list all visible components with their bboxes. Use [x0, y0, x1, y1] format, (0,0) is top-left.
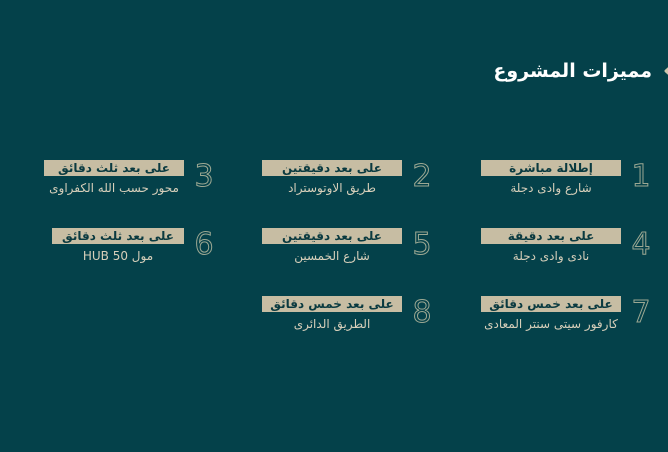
feature-number: 3 [193, 160, 215, 194]
feature-subtitle: طريق الاوتوستراد [262, 181, 402, 196]
feature-body: على بعد ثلث دقائق محور حسب الله الكفراوى [44, 160, 184, 196]
feature-number: 7 [630, 296, 652, 330]
feature-subtitle: نادى وادى دجلة [481, 249, 621, 264]
feature-number: 2 [411, 160, 433, 194]
feature-body: على بعد خمس دقائق الطريق الدائرى [262, 296, 402, 332]
feature-badge: على بعد خمس دقائق [481, 296, 621, 312]
feature-badge: إطلالة مباشرة [481, 160, 621, 176]
feature-number: 1 [630, 160, 652, 194]
feature-body: على بعد دقيقتين شارع الخمسين [262, 228, 402, 264]
feature-body: إطلالة مباشرة شارع وادى دجلة [481, 160, 621, 196]
slide-canvas: مميزات المشروع 1 إطلالة مباشرة شارع وادى… [0, 0, 668, 452]
feature-item[interactable]: 7 على بعد خمس دقائق كارفور سيتى سنتر الم… [481, 296, 652, 332]
feature-badge: على بعد خمس دقائق [262, 296, 402, 312]
feature-item[interactable]: 1 إطلالة مباشرة شارع وادى دجلة [481, 160, 652, 196]
feature-badge: على بعد ثلث دقائق [44, 160, 184, 176]
feature-subtitle: الطريق الدائرى [262, 317, 402, 332]
feature-badge: على بعد دقيقة [481, 228, 621, 244]
feature-subtitle: شارع وادى دجلة [481, 181, 621, 196]
chevron-left-icon [660, 58, 668, 84]
feature-item[interactable]: 3 على بعد ثلث دقائق محور حسب الله الكفرا… [44, 160, 215, 196]
feature-badge: على بعد دقيقتين [262, 160, 402, 176]
feature-number: 6 [193, 228, 215, 262]
feature-item[interactable]: 6 على بعد ثلث دقائق مول HUB 50 [52, 228, 215, 264]
feature-badge: على بعد ثلث دقائق [52, 228, 184, 244]
feature-subtitle: محور حسب الله الكفراوى [44, 181, 184, 196]
feature-subtitle: كارفور سيتى سنتر المعادى [481, 317, 621, 332]
feature-number: 5 [411, 228, 433, 262]
page-title: مميزات المشروع [493, 58, 668, 84]
page-title-text: مميزات المشروع [493, 58, 652, 84]
feature-body: على بعد ثلث دقائق مول HUB 50 [52, 228, 184, 264]
feature-subtitle: شارع الخمسين [262, 249, 402, 264]
feature-number: 8 [411, 296, 433, 330]
feature-item[interactable]: 4 على بعد دقيقة نادى وادى دجلة [481, 228, 652, 264]
feature-badge: على بعد دقيقتين [262, 228, 402, 244]
feature-subtitle: مول HUB 50 [52, 249, 184, 264]
feature-body: على بعد دقيقتين طريق الاوتوستراد [262, 160, 402, 196]
feature-item[interactable]: 2 على بعد دقيقتين طريق الاوتوستراد [262, 160, 433, 196]
features-grid: 1 إطلالة مباشرة شارع وادى دجلة 2 على بعد… [0, 160, 668, 360]
feature-item[interactable]: 5 على بعد دقيقتين شارع الخمسين [262, 228, 433, 264]
feature-body: على بعد دقيقة نادى وادى دجلة [481, 228, 621, 264]
feature-body: على بعد خمس دقائق كارفور سيتى سنتر المعا… [481, 296, 621, 332]
feature-item[interactable]: 8 على بعد خمس دقائق الطريق الدائرى [262, 296, 433, 332]
feature-number: 4 [630, 228, 652, 262]
